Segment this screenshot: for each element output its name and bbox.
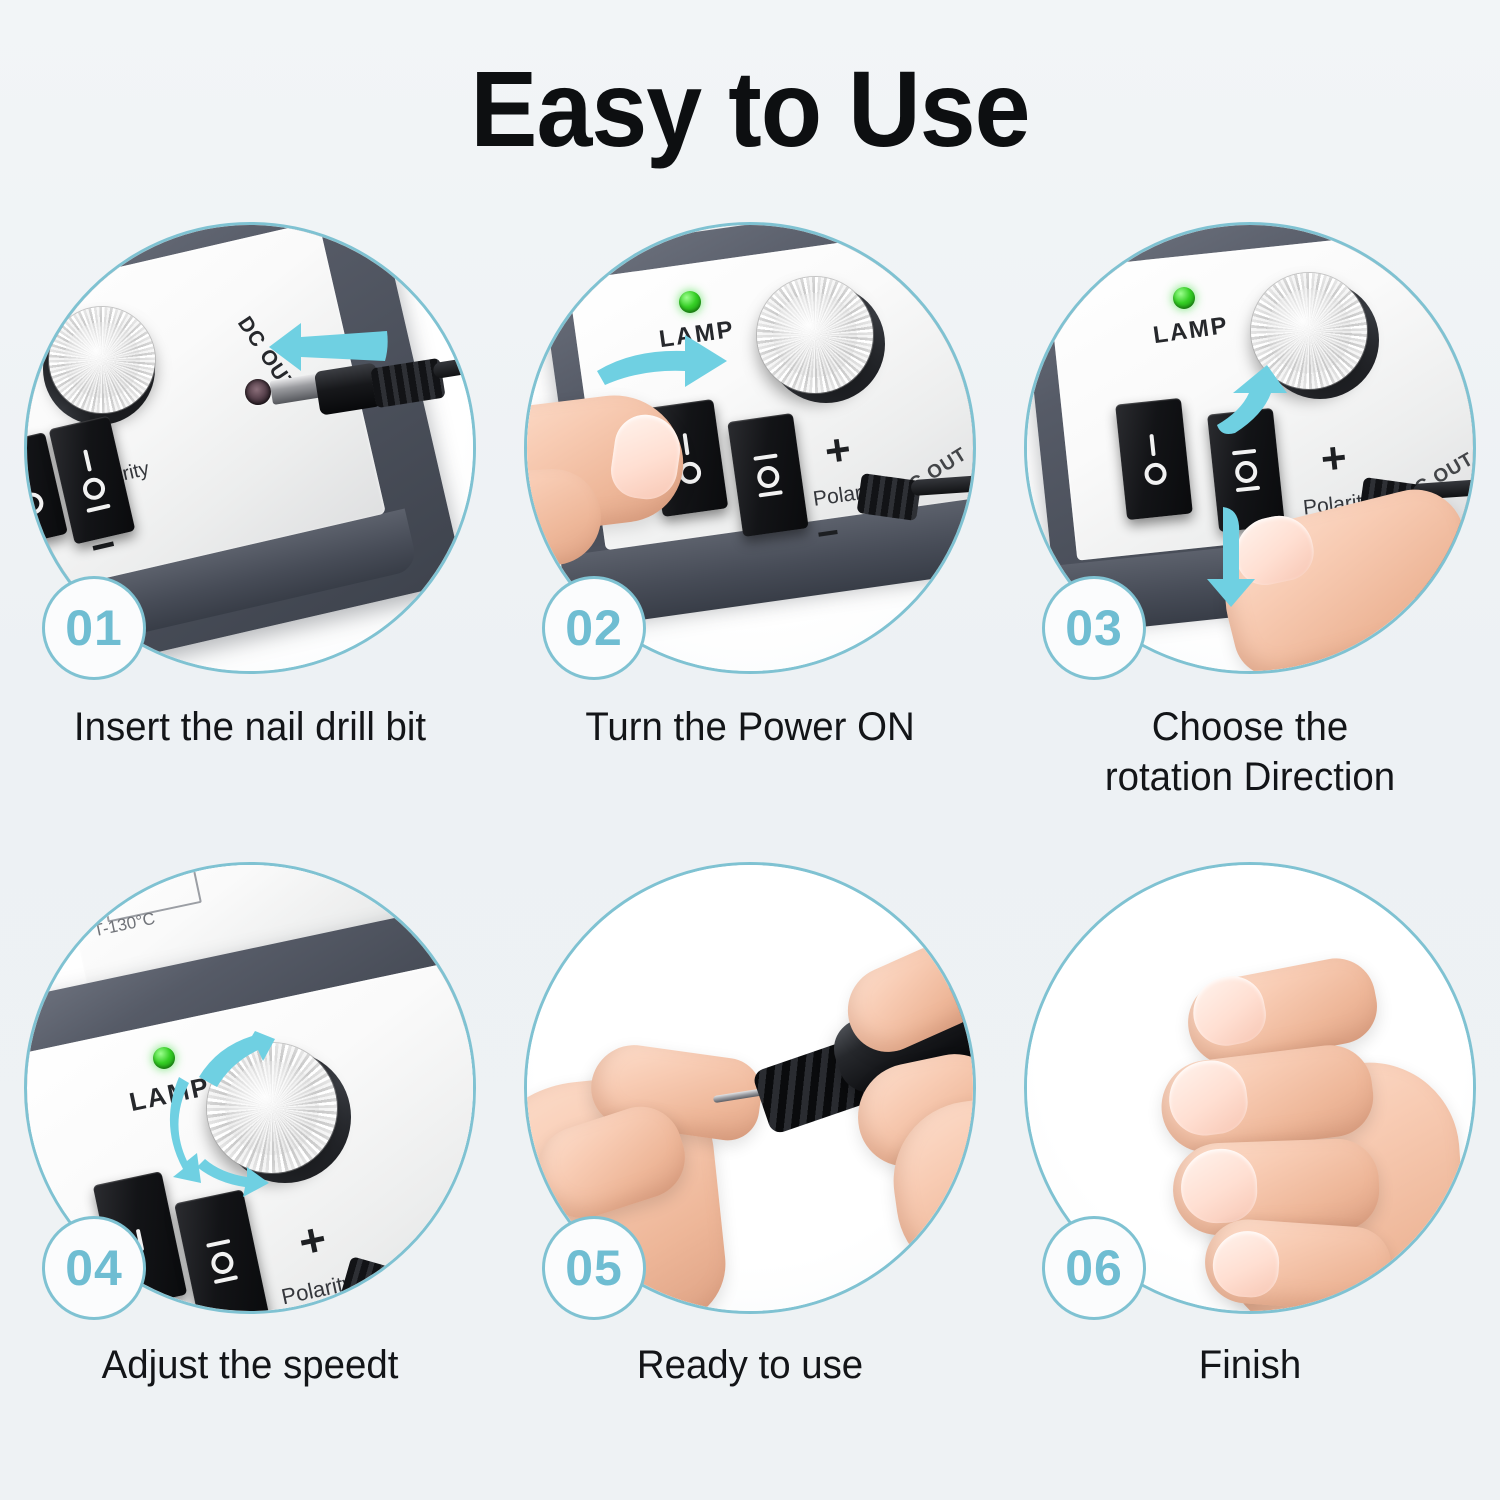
rocker-line-mark — [682, 432, 689, 454]
rocker-circle-mark — [81, 476, 107, 502]
step-image-frame-06: 06 — [1024, 862, 1476, 1314]
step-number-02: 02 — [565, 599, 623, 657]
step-card-01: + Polarity − — [0, 222, 500, 857]
step-caption-01: Insert the nail drill bit — [10, 702, 490, 752]
rocker-equals-mark — [86, 504, 110, 513]
dc-plug-strain-relief — [857, 473, 922, 521]
power-rocker-switch[interactable] — [1115, 398, 1193, 520]
insert-direction-arrow-icon — [263, 317, 393, 379]
rocker-dash-mark — [753, 453, 777, 460]
infographic-page: Easy to Use + — [0, 0, 1500, 1500]
step-image-frame-04: T-130°C INDOOR LAMP — [24, 862, 476, 1314]
page-title: Easy to Use — [53, 52, 1448, 165]
rocker-dash-mark — [206, 1238, 230, 1247]
step-card-05: 05 Ready to use — [500, 862, 1000, 1497]
step-badge-04: 04 — [42, 1216, 146, 1320]
step-number-01: 01 — [65, 599, 123, 657]
steps-grid: + Polarity − — [0, 222, 1500, 1492]
step-badge-05: 05 — [542, 1216, 646, 1320]
rocker-circle-mark — [1234, 459, 1258, 483]
rocker-dash-mark — [1232, 448, 1256, 454]
rocker-circle-mark — [756, 464, 781, 489]
speed-knob[interactable] — [757, 277, 873, 393]
step-caption-03: Choose the rotation Direction — [1010, 702, 1490, 802]
dc-power-cable — [432, 351, 476, 379]
step-number-05: 05 — [565, 1239, 623, 1297]
rocker-equals-mark — [758, 490, 782, 497]
lamp-led-indicator — [679, 291, 701, 313]
step-image-frame-01: + Polarity − — [24, 222, 476, 674]
rocker-line-mark — [83, 449, 92, 471]
step-image-frame-03: LAMP + Polarity — [1024, 222, 1476, 674]
speed-knob[interactable] — [49, 307, 155, 413]
step-number-06: 06 — [1065, 1239, 1123, 1297]
step-badge-06: 06 — [1042, 1216, 1146, 1320]
lamp-led-indicator — [1173, 287, 1195, 309]
step-card-03: LAMP + Polarity — [1000, 222, 1500, 857]
step-image-frame-05: 05 — [524, 862, 976, 1314]
speed-adjust-rotation-arrow-icon — [159, 1025, 279, 1201]
step-badge-01: 01 — [42, 576, 146, 680]
step-card-06: 06 Finish — [1000, 862, 1500, 1497]
step-badge-03: 03 — [1042, 576, 1146, 680]
step-caption-04: Adjust the speedt — [10, 1340, 490, 1390]
polarity-plus-label: + — [1319, 436, 1349, 482]
rocker-line-mark — [1149, 433, 1155, 455]
step-image-frame-02: LAMP — [524, 222, 976, 674]
dc-out-jack — [245, 379, 271, 405]
rocker-circle-mark — [209, 1249, 235, 1275]
rotation-direction-down-arrow-icon — [1203, 505, 1261, 609]
step-badge-02: 02 — [542, 576, 646, 680]
step-number-04: 04 — [65, 1239, 123, 1297]
power-on-direction-arrow-icon — [593, 327, 733, 393]
step-caption-05: Ready to use — [510, 1340, 990, 1390]
step-caption-02: Turn the Power ON — [510, 702, 990, 752]
rocker-circle-mark — [24, 490, 45, 516]
rocker-circle-mark — [1143, 461, 1167, 485]
step-number-03: 03 — [1065, 599, 1123, 657]
rocker-equals-mark — [214, 1275, 238, 1284]
rocker-line-mark — [24, 464, 30, 486]
rotation-direction-up-arrow-icon — [1215, 363, 1289, 439]
rocker-equals-mark — [1236, 485, 1260, 491]
step-card-02: LAMP — [500, 222, 1000, 857]
step-card-04: T-130°C INDOOR LAMP — [0, 862, 500, 1497]
step-caption-06: Finish — [1010, 1340, 1490, 1390]
